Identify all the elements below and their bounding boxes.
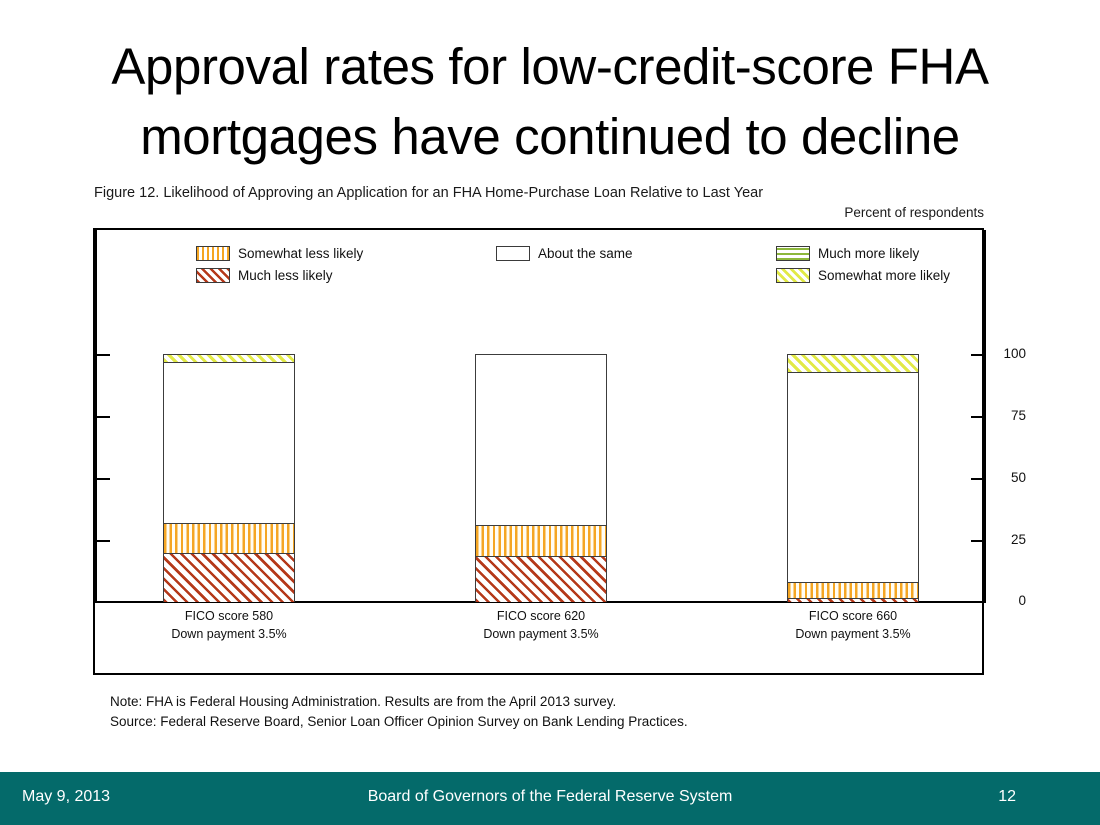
page-title: Approval rates for low-credit-score FHA … bbox=[50, 32, 1050, 173]
stacked-bar-fico-660[interactable] bbox=[787, 354, 919, 602]
y-tick-label-50: 50 bbox=[1011, 470, 1026, 485]
bar-segment-somewhat-less-likely[interactable] bbox=[788, 582, 918, 598]
bar-segment-much-less-likely[interactable] bbox=[476, 556, 606, 602]
category-label-fico-580-line1: FICO score 580 bbox=[109, 608, 349, 626]
bar-segment-much-less-likely[interactable] bbox=[164, 553, 294, 602]
category-label-fico-660-line2: Down payment 3.5% bbox=[733, 626, 973, 644]
category-label-fico-580: FICO score 580 Down payment 3.5% bbox=[109, 608, 349, 644]
figure-units-label: Percent of respondents bbox=[844, 205, 984, 220]
stacked-bar-fico-580[interactable] bbox=[163, 354, 295, 602]
category-label-fico-660-line1: FICO score 660 bbox=[733, 608, 973, 626]
stacked-bar-fico-620[interactable] bbox=[475, 354, 607, 602]
bar-segment-somewhat-less-likely[interactable] bbox=[476, 525, 606, 556]
category-label-fico-620-line2: Down payment 3.5% bbox=[421, 626, 661, 644]
bar-segment-somewhat-more-likely[interactable] bbox=[788, 355, 918, 372]
bar-segment-about-the-same[interactable] bbox=[788, 372, 918, 582]
chart-axis-area: 100 75 50 25 0 bbox=[95, 230, 986, 677]
title-line-2: mortgages have continued to decline bbox=[50, 102, 1050, 172]
footer-page-number: 12 bbox=[998, 788, 1016, 806]
bar-segment-about-the-same[interactable] bbox=[476, 355, 606, 525]
figure-caption: Figure 12. Likelihood of Approving an Ap… bbox=[94, 185, 763, 201]
chart-bars bbox=[95, 230, 986, 602]
title-line-1: Approval rates for low-credit-score FHA bbox=[50, 32, 1050, 102]
category-label-fico-620: FICO score 620 Down payment 3.5% bbox=[421, 608, 661, 644]
slide-footer: May 9, 2013 Board of Governors of the Fe… bbox=[0, 772, 1100, 825]
bar-segment-much-less-likely[interactable] bbox=[788, 598, 918, 602]
y-tick-label-25: 25 bbox=[1011, 532, 1026, 547]
y-tick-label-100: 100 bbox=[1003, 346, 1026, 361]
slide: Approval rates for low-credit-score FHA … bbox=[0, 0, 1100, 825]
y-tick-label-75: 75 bbox=[1011, 408, 1026, 423]
figure-source: Source: Federal Reserve Board, Senior Lo… bbox=[110, 712, 688, 732]
category-label-fico-620-line1: FICO score 620 bbox=[421, 608, 661, 626]
figure-note: Note: FHA is Federal Housing Administrat… bbox=[110, 692, 688, 712]
chart-plot-box: Somewhat less likely About the same Much… bbox=[93, 228, 984, 675]
figure-notes: Note: FHA is Federal Housing Administrat… bbox=[110, 692, 688, 731]
category-label-fico-660: FICO score 660 Down payment 3.5% bbox=[733, 608, 973, 644]
bar-segment-about-the-same[interactable] bbox=[164, 362, 294, 523]
category-label-fico-580-line2: Down payment 3.5% bbox=[109, 626, 349, 644]
y-tick-label-0: 0 bbox=[1018, 593, 1026, 608]
bar-segment-somewhat-less-likely[interactable] bbox=[164, 523, 294, 553]
bar-segment-somewhat-more-likely[interactable] bbox=[164, 355, 294, 362]
footer-organization: Board of Governors of the Federal Reserv… bbox=[0, 788, 1100, 806]
